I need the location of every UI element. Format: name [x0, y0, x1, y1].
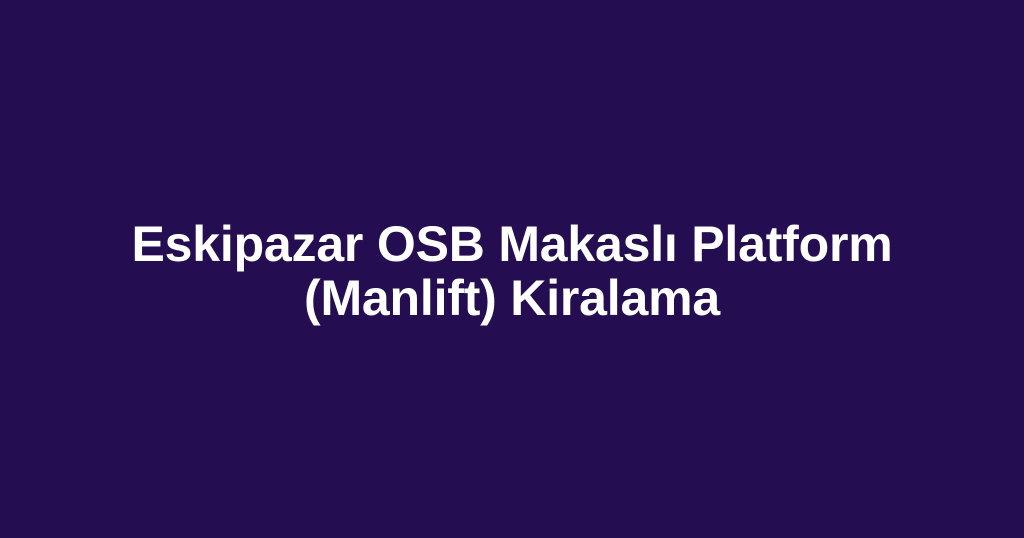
- title-block: Eskipazar OSB Makaslı Platform (Manlift)…: [82, 217, 942, 325]
- og-preview-card: Eskipazar OSB Makaslı Platform (Manlift)…: [0, 0, 1024, 538]
- page-title: Eskipazar OSB Makaslı Platform (Manlift)…: [82, 217, 942, 325]
